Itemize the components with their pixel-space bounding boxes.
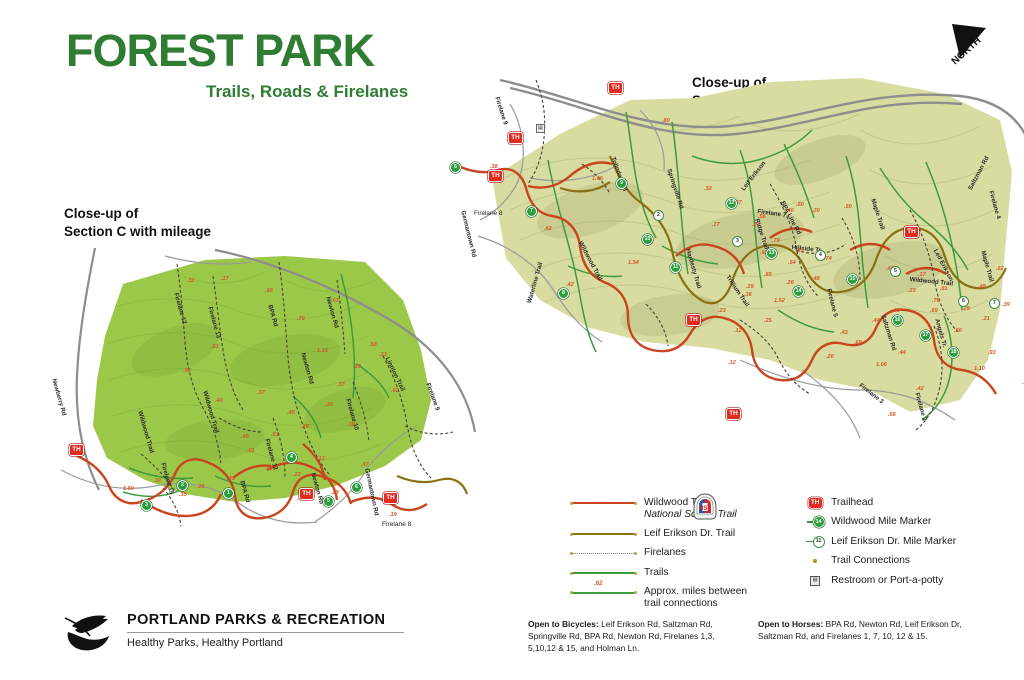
- trails-swatch: [566, 566, 644, 579]
- trailhead-marker[interactable]: TH: [686, 314, 701, 326]
- wildwood-mile-marker[interactable]: 2: [177, 480, 188, 491]
- wildwood-mile-marker[interactable]: 3: [141, 500, 152, 511]
- wildwood-mile-marker[interactable]: 13: [766, 248, 777, 259]
- legend-item-trails: Trails: [566, 566, 747, 579]
- trailhead-marker[interactable]: TH: [608, 82, 623, 94]
- wildwood-mile-marker[interactable]: 1: [223, 488, 234, 499]
- trailhead-icon-text: TH: [809, 498, 822, 508]
- legend-item-trailhead: TH Trailhead: [799, 496, 956, 509]
- wildwood-mile-marker[interactable]: 16: [892, 315, 903, 326]
- restroom-icon: ▤: [799, 574, 831, 587]
- leif-erikson-mile-marker[interactable]: 2: [653, 210, 664, 221]
- legend-label-trails: Trails: [644, 566, 669, 579]
- leif-erikson-swatch: [566, 527, 644, 540]
- legend-item-firelanes: Firelanes: [566, 547, 747, 560]
- divider: [127, 632, 404, 633]
- firelanes-swatch: [566, 547, 644, 560]
- title-block: FOREST PARK Trails, Roads & Firelanes: [66, 28, 408, 102]
- wildwood-mile-marker[interactable]: 17: [920, 330, 931, 341]
- wildwood-mile-marker[interactable]: 5: [323, 496, 334, 507]
- map-section-c-graphic: [35, 240, 470, 545]
- wildwood-mile-marker[interactable]: 12: [726, 198, 737, 209]
- wildwood-mile-marker[interactable]: 14: [793, 286, 804, 297]
- trailhead-marker[interactable]: TH: [508, 132, 523, 144]
- trailhead-marker[interactable]: TH: [726, 408, 741, 420]
- wildwood-mile-marker[interactable]: 18: [948, 347, 959, 358]
- wildwood-mile-marker[interactable]: 9: [616, 178, 627, 189]
- legend-column-markers: TH Trailhead 14 Wildwood Mile Marker: [771, 496, 956, 617]
- wildwood-mile-marker-icon-text: 14: [814, 517, 824, 527]
- legend-label-restroom: Restroom or Port-a-potty: [831, 574, 943, 587]
- legend-label-approx-miles-2: trail connections: [644, 598, 747, 610]
- wildwood-mile-marker[interactable]: 11: [670, 262, 681, 273]
- caption-section-c: Close-up of Section C with mileage: [64, 205, 211, 241]
- legend-item-leif-erikson: Leif Erikson Dr. Trail: [566, 527, 747, 540]
- restroom-icon-text: ▤: [810, 576, 820, 586]
- legend-label-leif-erikson-mile-marker: Leif Erikson Dr. Mile Marker: [831, 535, 956, 548]
- map-page: FOREST PARK Trails, Roads & Firelanes NO…: [0, 0, 1024, 680]
- legend-item-wildwood-trail: NST Wildwood Trail - National Scenic Tra…: [566, 496, 747, 521]
- usage-note-horses: Open to Horses: BPA Rd, Newton Rd, Leif …: [758, 618, 966, 655]
- approx-miles-swatch: .62: [566, 586, 644, 599]
- wildwood-mile-marker[interactable]: 6: [450, 162, 461, 173]
- legend-label-wildwood-mile-marker: Wildwood Mile Marker: [831, 516, 931, 529]
- leaf-in-hand-icon: [62, 608, 114, 652]
- portland-parks-recreation-logo: PORTLAND PARKS & RECREATION Healthy Park…: [62, 608, 404, 652]
- trailhead-marker[interactable]: TH: [69, 444, 84, 456]
- map-section-b[interactable]: Firelane 9 Germantown Rd Firelane 8 Wate…: [440, 60, 1015, 460]
- usage-note-bicycles: Open to Bicycles: Leif Erikson Rd, Saltz…: [528, 618, 736, 655]
- caption-section-c-line2: Section C with mileage: [64, 223, 211, 241]
- legend-label-trailhead: Trailhead: [831, 496, 873, 509]
- wildwood-mile-marker[interactable]: 6: [351, 482, 362, 493]
- map-section-b-graphic: [440, 60, 1015, 460]
- leif-erikson-mile-marker[interactable]: 7: [989, 298, 1000, 309]
- wildwood-mile-marker[interactable]: 10: [642, 234, 653, 245]
- leif-erikson-mile-marker-icon-text: 11: [813, 536, 825, 548]
- usage-note-bicycles-heading: Open to Bicycles:: [528, 619, 599, 629]
- connector-stub-icon: [807, 521, 814, 523]
- usage-notes: Open to Bicycles: Leif Erikson Rd, Saltz…: [528, 618, 968, 655]
- wildwood-mile-marker[interactable]: 15: [847, 274, 858, 285]
- connector-stub-icon: [806, 541, 813, 543]
- map-section-c[interactable]: Newberry Rd Firelane 12 Firelane 13 BPA …: [35, 240, 470, 545]
- leif-erikson-mile-marker[interactable]: 3: [732, 236, 743, 247]
- legend-item-leif-erikson-mile-marker: 11 Leif Erikson Dr. Mile Marker: [799, 535, 956, 548]
- page-title: FOREST PARK: [66, 28, 408, 73]
- restroom-marker[interactable]: ▤: [536, 124, 545, 133]
- legend-label-firelanes: Firelanes: [644, 547, 686, 560]
- legend: NST Wildwood Trail - National Scenic Tra…: [566, 496, 996, 617]
- trailhead-marker[interactable]: TH: [904, 226, 919, 238]
- trailhead-marker[interactable]: TH: [488, 170, 503, 182]
- legend-column-lines: NST Wildwood Trail - National Scenic Tra…: [566, 496, 747, 617]
- org-name: PORTLAND PARKS & RECREATION: [127, 612, 404, 628]
- legend-label-leif-erikson: Leif Erikson Dr. Trail: [644, 527, 735, 540]
- leif-erikson-mile-marker-icon: 11: [799, 535, 831, 548]
- legend-label-approx-miles: Approx. miles between: [644, 586, 747, 598]
- legend-item-trail-connections: Trail Connections: [799, 555, 956, 568]
- caption-section-c-line1: Close-up of: [64, 205, 211, 223]
- trailhead-marker[interactable]: TH: [383, 492, 398, 504]
- page-subtitle: Trails, Roads & Firelanes: [206, 82, 408, 102]
- wildwood-trail-swatch: NST: [566, 496, 644, 509]
- trail-connection-dot-icon: [799, 555, 831, 568]
- legend-item-restroom: ▤ Restroom or Port-a-potty: [799, 574, 956, 587]
- wildwood-mile-marker[interactable]: 8: [558, 288, 569, 299]
- wildwood-mile-marker[interactable]: 4: [286, 452, 297, 463]
- trailhead-icon: TH: [799, 496, 831, 509]
- legend-mile-example: .62: [594, 581, 602, 587]
- legend-item-approx-miles: .62 Approx. miles between trail connecti…: [566, 586, 747, 611]
- wildwood-mile-marker[interactable]: 7: [526, 206, 537, 217]
- svg-text:NST: NST: [699, 506, 711, 512]
- leif-erikson-mile-marker[interactable]: 4: [815, 250, 826, 261]
- org-tagline: Healthy Parks, Healthy Portland: [127, 637, 404, 649]
- leif-erikson-mile-marker[interactable]: 6: [958, 296, 969, 307]
- legend-item-wildwood-mile-marker: 14 Wildwood Mile Marker: [799, 516, 956, 529]
- leif-erikson-mile-marker[interactable]: 5: [890, 266, 901, 277]
- legend-label-trail-connections: Trail Connections: [831, 555, 910, 568]
- trailhead-marker[interactable]: TH: [299, 488, 314, 500]
- national-scenic-trail-shield-icon: NST: [690, 492, 720, 522]
- wildwood-mile-marker-icon: 14: [799, 516, 831, 529]
- usage-note-horses-heading: Open to Horses:: [758, 619, 823, 629]
